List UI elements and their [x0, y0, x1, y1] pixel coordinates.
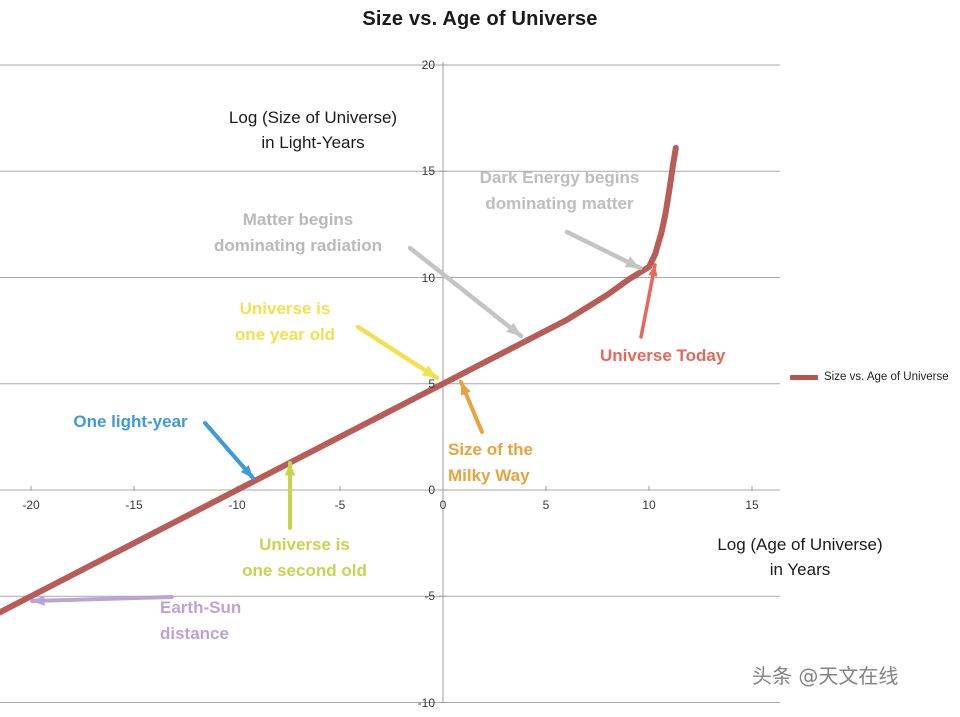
chart-plot-area: [0, 0, 960, 717]
y-axis-label-line1: Log (Size of Universe): [168, 105, 458, 130]
y-tick-label: 15: [401, 164, 435, 178]
gridlines: [0, 65, 780, 703]
x-tick-label: 15: [732, 498, 772, 512]
x-tick-label: -15: [114, 498, 154, 512]
x-tick-label: 0: [423, 498, 463, 512]
x-tick-label: -10: [217, 498, 257, 512]
y-tick-label: 20: [401, 58, 435, 72]
annotation-dark-energy-begins-dominating-matter: Dark Energy begins dominating matter: [452, 165, 667, 217]
annotation-line1: Dark Energy begins: [452, 165, 667, 191]
x-tick-label: 5: [526, 498, 566, 512]
annotation-line2: dominating radiation: [178, 233, 418, 259]
annotation-line1: Universe Today: [600, 343, 780, 369]
y-tick-label: 5: [401, 377, 435, 391]
x-axis-label-line2: in Years: [650, 557, 950, 582]
x-tick-label: -20: [11, 498, 51, 512]
annotation-one-light-year: One light-year: [48, 409, 213, 435]
y-axis-label-line2: in Light-Years: [168, 130, 458, 155]
annotation-universe-today: Universe Today: [600, 343, 780, 369]
chart-canvas: Size vs. Age of Universe Log (Size of Un…: [0, 0, 960, 717]
y-tick-label: 0: [401, 483, 435, 497]
annotation-line2: one year old: [200, 322, 370, 348]
x-axis-label: Log (Age of Universe) in Years: [650, 532, 950, 582]
annotation-line2: dominating matter: [452, 191, 667, 217]
annotation-line2: one second old: [212, 558, 397, 584]
annotation-line1: Matter begins: [178, 207, 418, 233]
annotation-line2: distance: [160, 621, 300, 647]
annotation-line1: Universe is: [200, 296, 370, 322]
y-tick-label: -10: [401, 696, 435, 710]
legend-label: Size vs. Age of Universe: [824, 371, 949, 383]
annotation-universe-one-year-old: Universe is one year old: [200, 296, 370, 348]
annotation-earth-sun-distance: Earth-Sun distance: [160, 595, 300, 647]
annotation-line1: Universe is: [212, 532, 397, 558]
y-axis-label: Log (Size of Universe) in Light-Years: [168, 105, 458, 155]
legend-color-swatch: [790, 375, 818, 380]
x-axis-label-line1: Log (Age of Universe): [650, 532, 950, 557]
annotation-matter-begins-dominating-radiation: Matter begins dominating radiation: [178, 207, 418, 259]
x-tick-label: -5: [320, 498, 360, 512]
annotation-universe-one-second-old: Universe is one second old: [212, 532, 397, 584]
annotation-size-of-the-milky-way: Size of the Milky Way: [448, 437, 578, 489]
x-tick-label: 10: [629, 498, 669, 512]
watermark-text: 头条 @天文在线: [752, 660, 898, 689]
annotation-line2: Milky Way: [448, 463, 578, 489]
annotation-line1: One light-year: [48, 409, 213, 435]
y-tick-label: -5: [401, 589, 435, 603]
chart-legend: Size vs. Age of Universe: [790, 371, 949, 383]
annotation-line1: Earth-Sun: [160, 595, 300, 621]
y-tick-label: 10: [401, 271, 435, 285]
annotation-line1: Size of the: [448, 437, 578, 463]
